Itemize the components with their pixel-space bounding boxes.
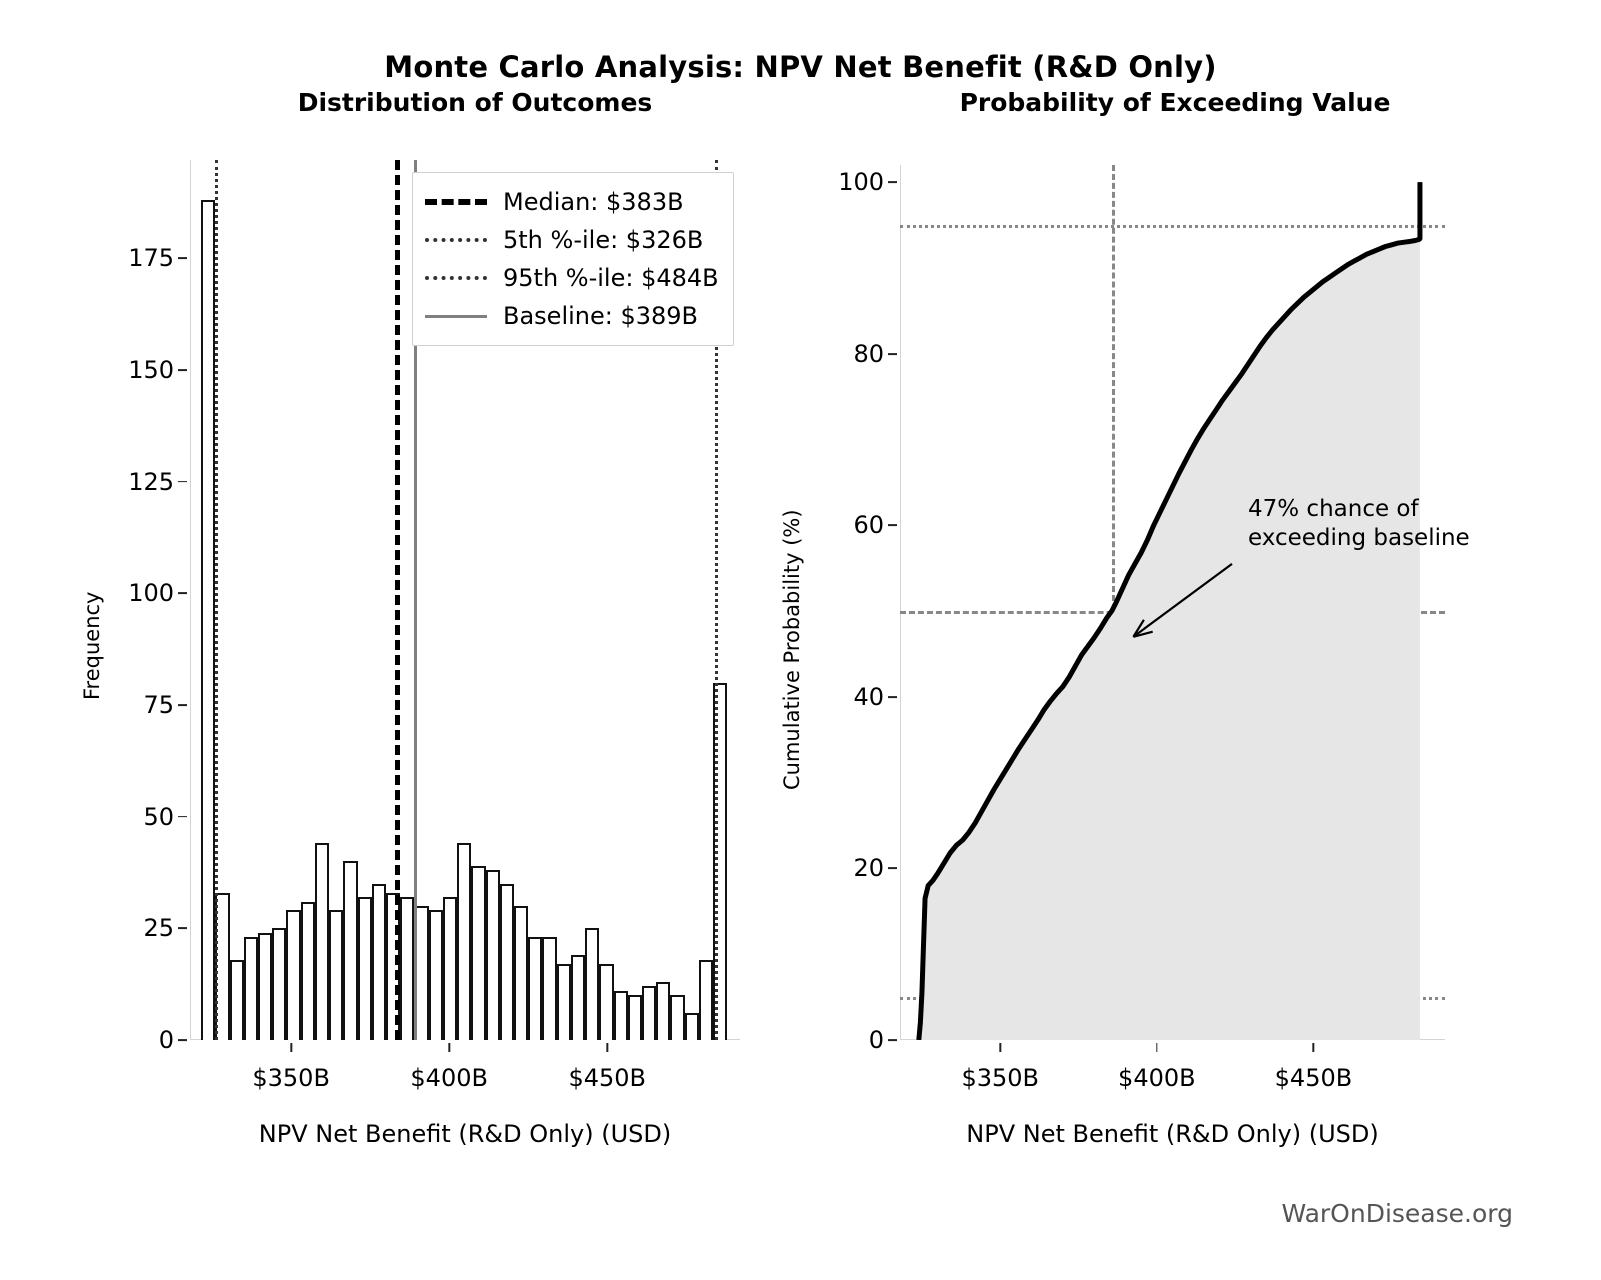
cdf-y-tick: 0 (869, 1026, 900, 1054)
cdf-y-axis-label: Cumulative Probability (%) (780, 509, 804, 790)
cdf-y-tick: 20 (853, 854, 900, 882)
histogram-x-tick: $400B (410, 1040, 488, 1092)
histogram-y-tick: 50 (143, 803, 190, 831)
cdf-x-axis-label: NPV Net Benefit (R&D Only) (USD) (900, 1120, 1445, 1148)
histogram-legend: Median: $383B 5th %-ile: $326B 95th %-il… (412, 172, 734, 346)
cdf-y-tick: 40 (853, 683, 900, 711)
cdf-y-tick: 80 (853, 340, 900, 368)
histogram-y-tick: 125 (128, 468, 190, 496)
histogram-y-axis-label: Frequency (80, 592, 104, 701)
cdf-y-tick: 100 (838, 168, 900, 196)
cdf-x-tick: $400B (1118, 1040, 1196, 1092)
cdf-area-fill (919, 182, 1420, 1040)
cdf-curve (900, 165, 1445, 1040)
histogram-y-tick: 150 (128, 356, 190, 384)
histogram-p5-line (215, 160, 218, 1040)
legend-label-p5: 5th %-ile: $326B (503, 226, 703, 254)
histogram-y-tick: 175 (128, 244, 190, 272)
cdf-plot-area: 020406080100 $350B$400B$450B 47% chance … (900, 165, 1445, 1040)
cdf-panel: Cumulative Probability (%) 020406080100 … (800, 0, 1601, 1280)
legend-item-p95: 95th %-ile: $484B (425, 259, 719, 297)
legend-key-p95-icon (425, 276, 487, 280)
histogram-y-tick: 100 (128, 579, 190, 607)
legend-item-baseline: Baseline: $389B (425, 297, 719, 335)
cdf-y-tick: 60 (853, 511, 900, 539)
legend-key-median-icon (425, 199, 487, 205)
legend-item-median: Median: $383B (425, 183, 719, 221)
cdf-annotation-text: 47% chance of exceeding baseline (1248, 495, 1470, 554)
histogram-x-tick: $450B (568, 1040, 646, 1092)
histogram-x-tick: $350B (252, 1040, 330, 1092)
legend-label-median: Median: $383B (503, 188, 684, 216)
histogram-median-line (395, 160, 400, 1040)
histogram-x-axis-label: NPV Net Benefit (R&D Only) (USD) (190, 1120, 740, 1148)
cdf-x-tick: $450B (1275, 1040, 1353, 1092)
legend-item-p5: 5th %-ile: $326B (425, 221, 719, 259)
histogram-y-tick: 25 (143, 914, 190, 942)
figure-canvas: Monte Carlo Analysis: NPV Net Benefit (R… (0, 0, 1601, 1280)
legend-key-p5-icon (425, 238, 487, 242)
histogram-y-tick: 0 (159, 1026, 190, 1054)
footer-watermark: WarOnDisease.org (1281, 1199, 1513, 1228)
legend-label-baseline: Baseline: $389B (503, 302, 698, 330)
legend-key-baseline-icon (425, 315, 487, 318)
legend-label-p95: 95th %-ile: $484B (503, 264, 719, 292)
cdf-x-tick: $350B (961, 1040, 1039, 1092)
histogram-y-tick: 75 (143, 691, 190, 719)
histogram-panel: Frequency 0255075100125150175 $350B$400B… (0, 0, 800, 1280)
